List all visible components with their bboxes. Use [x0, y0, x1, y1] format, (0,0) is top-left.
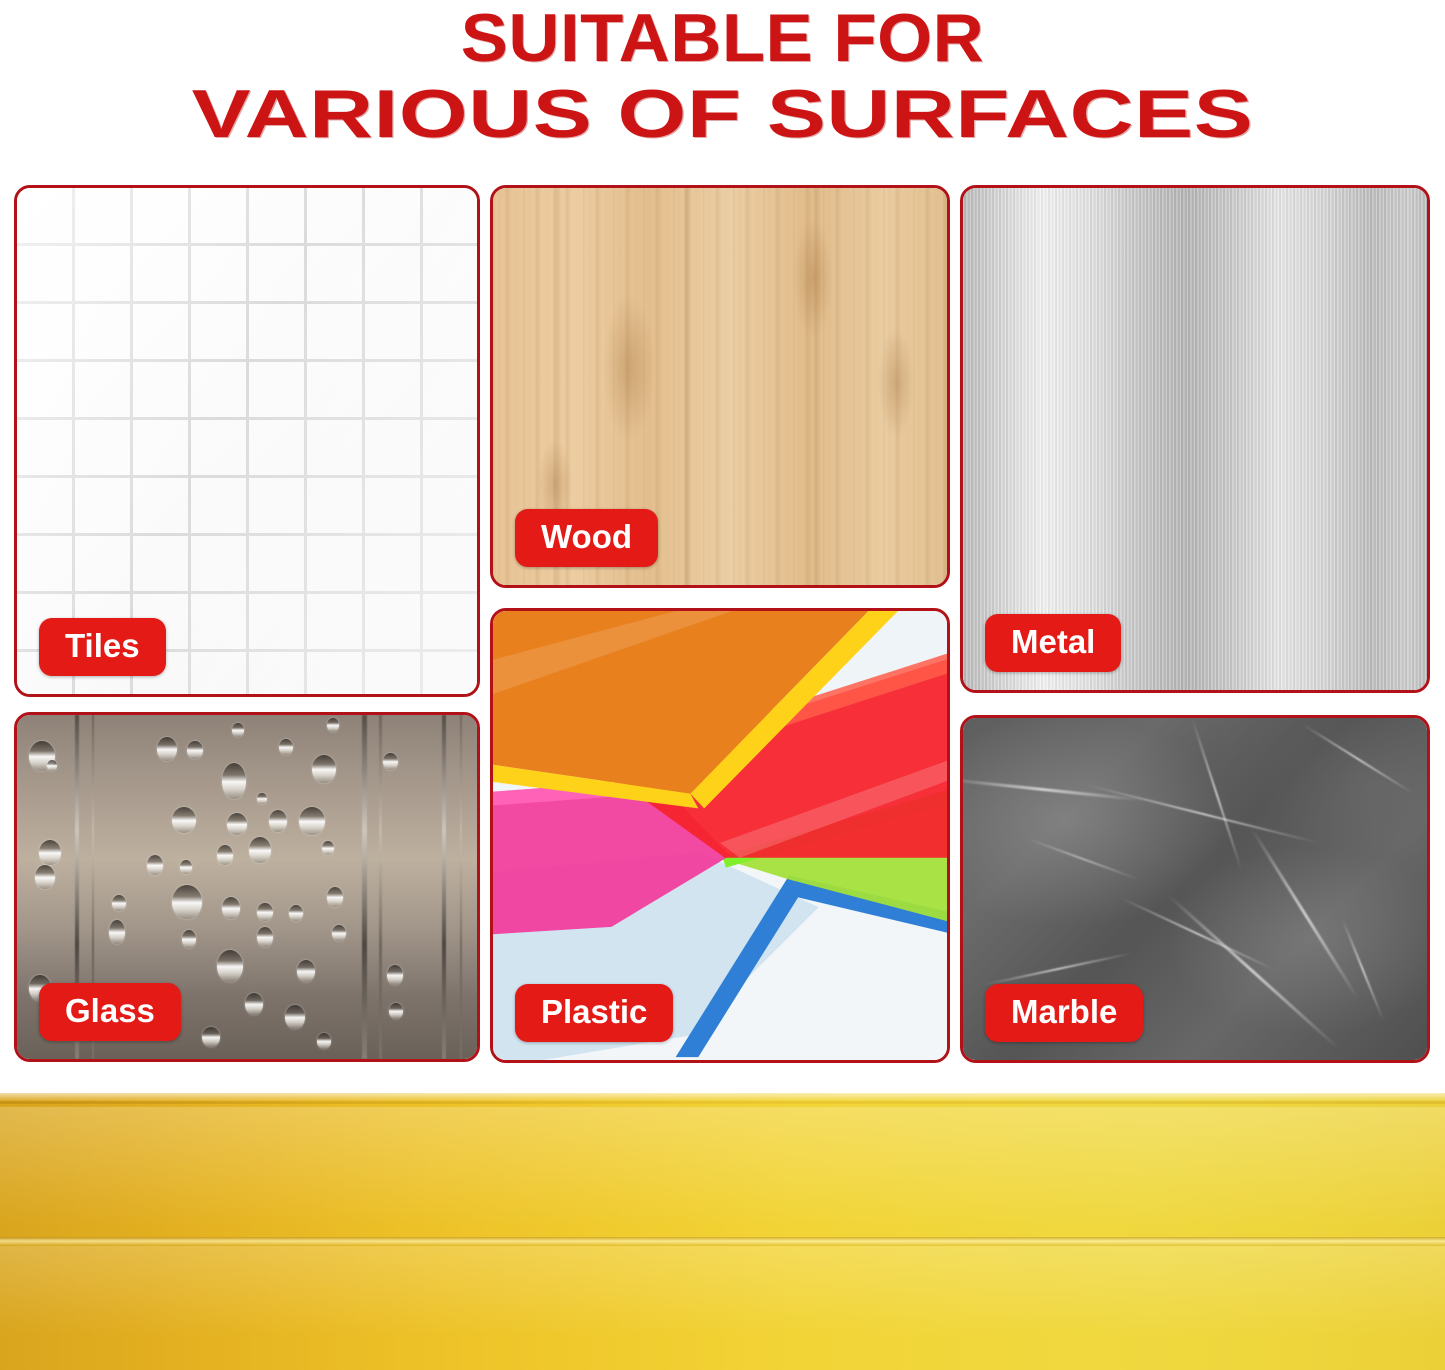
water-droplet	[245, 993, 263, 1015]
water-droplet	[217, 845, 233, 865]
water-droplet	[35, 865, 55, 889]
water-droplet	[297, 960, 315, 982]
panel-label-marble: Marble	[985, 984, 1143, 1042]
water-droplet	[285, 1005, 305, 1029]
water-droplet	[257, 903, 273, 921]
bar-top-edge	[0, 1101, 1445, 1104]
panel-label-plastic: Plastic	[515, 984, 673, 1042]
bar-upper-gloss	[0, 1107, 1445, 1227]
water-droplet	[387, 965, 403, 985]
water-droplet	[172, 885, 202, 919]
water-droplet	[217, 950, 243, 982]
wood-grain-knot	[603, 293, 655, 443]
glass-water-streak	[442, 715, 446, 1059]
water-droplet	[299, 807, 325, 835]
water-droplet	[322, 841, 334, 855]
water-droplet	[332, 925, 346, 941]
water-droplet	[172, 807, 196, 833]
surface-panel-tiles: Tiles	[14, 185, 480, 697]
water-droplet	[112, 895, 126, 911]
panel-label-glass: Glass	[39, 983, 181, 1041]
water-droplet	[232, 723, 244, 737]
water-droplet	[327, 718, 339, 732]
page-title-line-2: VARIOUS OF SURFACES	[0, 80, 1445, 148]
water-droplet	[202, 1027, 220, 1047]
water-droplet	[257, 927, 273, 947]
water-droplet	[109, 920, 125, 944]
water-droplet	[289, 905, 303, 921]
surface-panel-marble: Marble	[960, 715, 1430, 1063]
page-title: SUITABLE FOR VARIOUS OF SURFACES	[0, 0, 1445, 172]
water-droplet	[389, 1003, 403, 1019]
water-droplet	[279, 739, 293, 755]
water-droplet	[269, 810, 287, 832]
water-droplet	[222, 763, 246, 799]
panel-label-wood: Wood	[515, 509, 658, 567]
water-droplet	[222, 897, 240, 919]
water-droplet	[39, 840, 61, 865]
bar-seam-line	[0, 1237, 1445, 1246]
wood-grain-knot	[878, 328, 914, 438]
surface-panel-plastic: Plastic	[490, 608, 950, 1063]
water-droplet	[182, 930, 196, 948]
wood-grain-knot	[793, 218, 833, 338]
water-droplet	[227, 813, 247, 835]
water-droplet	[180, 860, 192, 874]
surface-panel-wood: Wood	[490, 185, 950, 588]
glass-water-streak	[460, 715, 462, 1059]
glass-water-streak	[379, 715, 382, 1059]
panel-label-metal: Metal	[985, 614, 1121, 672]
water-droplet	[47, 760, 57, 771]
water-droplet	[312, 755, 336, 783]
bar-lower-gloss	[0, 1246, 1445, 1336]
water-droplet	[157, 737, 177, 761]
yellow-squeegee-blade	[0, 1093, 1445, 1370]
water-droplet	[147, 855, 163, 875]
water-droplet	[187, 741, 203, 759]
page-title-line-1: SUITABLE FOR	[0, 4, 1445, 72]
water-droplet	[249, 837, 271, 863]
surface-panel-metal: Metal	[960, 185, 1430, 693]
surface-panel-glass: Glass	[14, 712, 480, 1062]
water-droplet	[257, 793, 267, 804]
glass-water-streak	[362, 715, 367, 1059]
panel-label-tiles: Tiles	[39, 618, 166, 676]
bar-top-highlight	[0, 1093, 1445, 1101]
water-droplet	[317, 1033, 331, 1049]
water-droplet	[327, 887, 343, 907]
water-droplet	[383, 753, 398, 770]
